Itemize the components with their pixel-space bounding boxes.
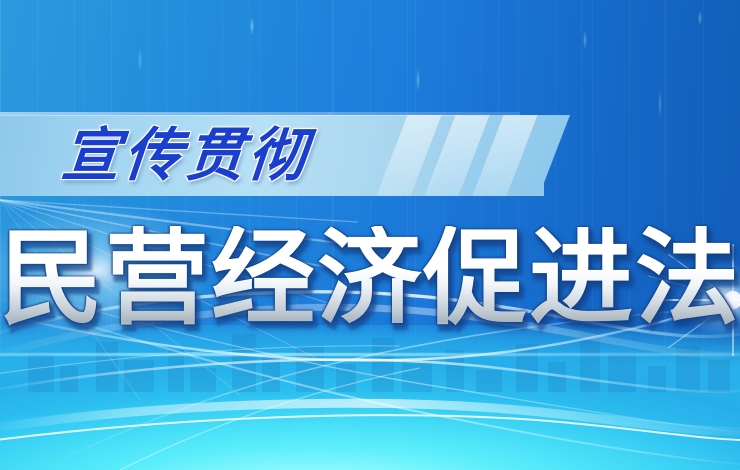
main-title-text: 民营经济促进法 xyxy=(0,226,740,330)
main-title: 民营经济促进法 xyxy=(0,218,740,338)
poster-canvas: 宣传贯彻 民营经济促进法 民营经济促进法 xyxy=(0,0,740,470)
headline-calligraphy: 宣传贯彻 xyxy=(58,114,395,196)
